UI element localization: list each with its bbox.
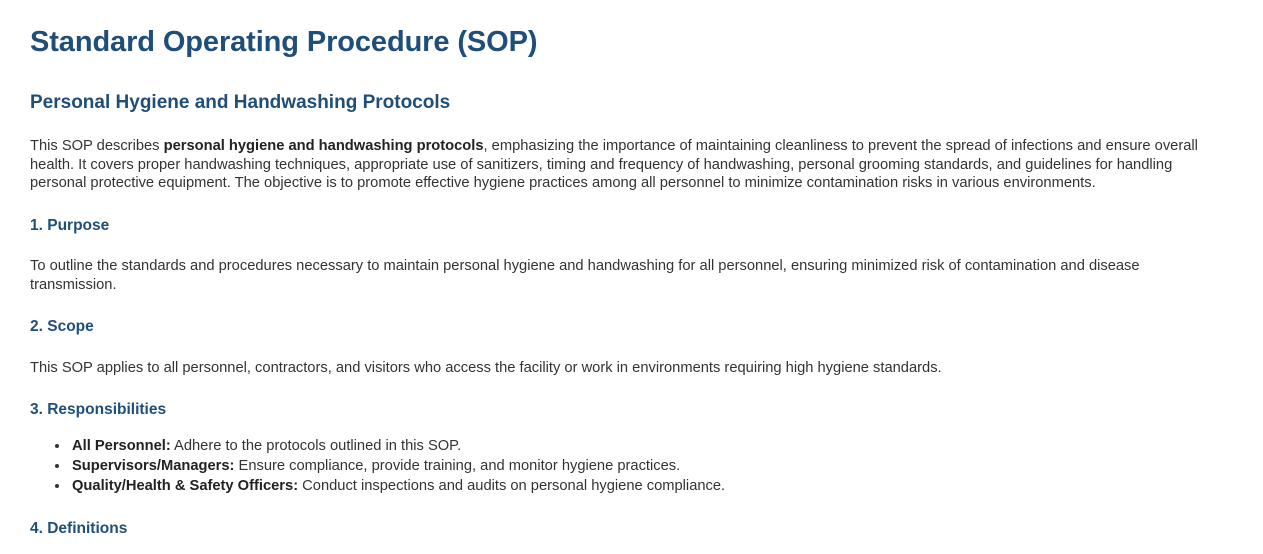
section-purpose: 1. Purpose To outline the standards and …	[30, 217, 1218, 295]
section-heading-definitions: 4. Definitions	[30, 520, 1218, 539]
section-heading-scope: 2. Scope	[30, 318, 1218, 337]
section-heading-responsibilities: 3. Responsibilities	[30, 401, 1218, 420]
document-subtitle: Personal Hygiene and Handwashing Protoco…	[30, 92, 1218, 115]
list-item-text: Ensure compliance, provide training, and…	[234, 458, 680, 474]
list-item-label: Quality/Health & Safety Officers:	[72, 478, 298, 494]
intro-emphasis-text: personal hygiene and handwashing protoco…	[164, 138, 484, 154]
document-page: Standard Operating Procedure (SOP) Perso…	[0, 0, 1263, 539]
list-item-text: Adhere to the protocols outlined in this…	[171, 438, 461, 454]
section-body-scope: This SOP applies to all personnel, contr…	[30, 359, 1218, 378]
list-item: Supervisors/Managers: Ensure compliance,…	[70, 456, 1218, 476]
section-body-purpose: To outline the standards and procedures …	[30, 257, 1218, 294]
intro-lead-text: This SOP describes	[30, 138, 164, 154]
list-item-label: Supervisors/Managers:	[72, 458, 234, 474]
list-item-label: All Personnel:	[72, 438, 171, 454]
list-item-text: Conduct inspections and audits on person…	[298, 478, 725, 494]
section-heading-purpose: 1. Purpose	[30, 217, 1218, 236]
intro-paragraph: This SOP describes personal hygiene and …	[30, 137, 1218, 193]
section-responsibilities: 3. Responsibilities All Personnel: Adher…	[30, 401, 1218, 496]
page-title: Standard Operating Procedure (SOP)	[30, 26, 1218, 59]
responsibilities-list: All Personnel: Adhere to the protocols o…	[30, 436, 1218, 496]
list-item: Quality/Health & Safety Officers: Conduc…	[70, 476, 1218, 496]
list-item: All Personnel: Adhere to the protocols o…	[70, 436, 1218, 456]
section-scope: 2. Scope This SOP applies to all personn…	[30, 318, 1218, 377]
section-definitions: 4. Definitions	[30, 520, 1218, 539]
